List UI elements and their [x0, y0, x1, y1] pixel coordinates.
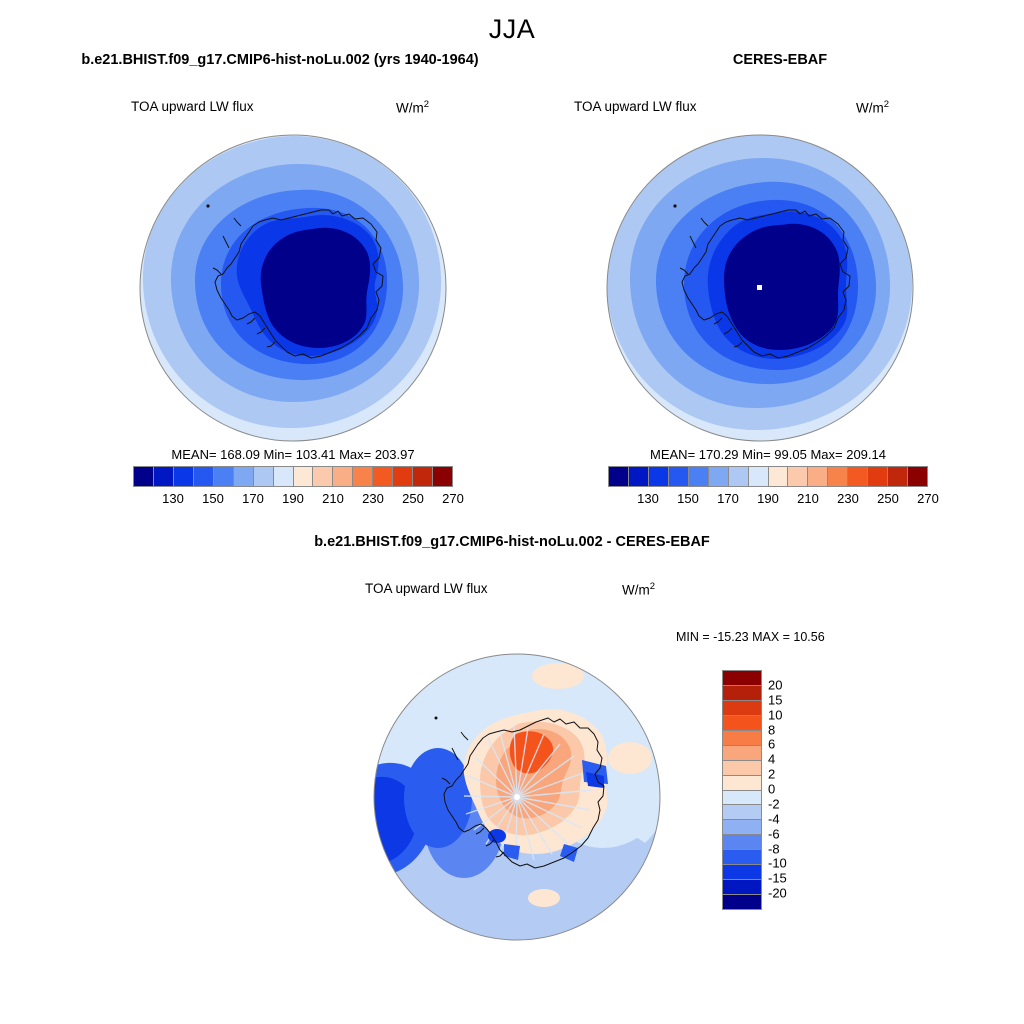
colorbar-swatch [373, 467, 393, 486]
colorbar-swatch [649, 467, 669, 486]
colorbar-difference[interactable]: 20151086420-2-4-6-8-10-15-20 [722, 670, 812, 910]
colorbar-swatch [689, 467, 709, 486]
colorbar-tick-label: 15 [768, 692, 782, 707]
colorbar-tick-label: 20 [768, 677, 782, 692]
difference-units-label: W/m2 [622, 581, 655, 598]
model-units-label: W/m2 [396, 99, 429, 116]
colorbar-tick-label: 150 [202, 491, 224, 506]
colorbar-model-swatches [133, 466, 453, 487]
colorbar-tick-label: 170 [717, 491, 739, 506]
colorbar-swatch [723, 791, 761, 806]
colorbar-swatch [729, 467, 749, 486]
colorbar-swatch [274, 467, 294, 486]
colorbar-swatch [723, 850, 761, 865]
colorbar-swatch [723, 835, 761, 850]
colorbar-swatch [788, 467, 808, 486]
model-variable-label: TOA upward LW flux [131, 99, 254, 114]
model-units-exponent: 2 [424, 99, 429, 110]
colorbar-obs[interactable]: 130150170190210230250270 [608, 466, 928, 509]
map-obs[interactable] [600, 128, 920, 448]
colorbar-tick-label: 6 [768, 737, 775, 752]
colorbar-swatch [868, 467, 888, 486]
colorbar-swatch [333, 467, 353, 486]
colorbar-tick-label: 230 [837, 491, 859, 506]
colorbar-tick-label: 190 [282, 491, 304, 506]
panel-title-obs: CERES-EBAF [560, 52, 1000, 68]
colorbar-swatch [749, 467, 769, 486]
colorbar-swatch [723, 671, 761, 686]
colorbar-swatch [723, 865, 761, 880]
colorbar-tick-label: 0 [768, 782, 775, 797]
colorbar-tick-label: 270 [442, 491, 464, 506]
colorbar-tick-label: -8 [768, 841, 780, 856]
colorbar-tick-label: -15 [768, 871, 787, 886]
colorbar-tick-label: 4 [768, 752, 775, 767]
colorbar-swatch [609, 467, 629, 486]
difference-variable-label: TOA upward LW flux [365, 581, 488, 596]
colorbar-tick-label: 130 [637, 491, 659, 506]
figure-season-title: JJA [0, 14, 1024, 45]
colorbar-swatch [393, 467, 413, 486]
colorbar-tick-label: 8 [768, 722, 775, 737]
obs-units-base: W/m [856, 101, 884, 116]
panel-title-model: b.e21.BHIST.f09_g17.CMIP6-hist-noLu.002 … [0, 52, 560, 68]
difference-minmax-text: MIN = -15.23 MAX = 10.56 [676, 630, 825, 644]
colorbar-tick-label: 270 [917, 491, 939, 506]
obs-variable-label: TOA upward LW flux [574, 99, 697, 114]
colorbar-swatch [214, 467, 234, 486]
colorbar-tick-label: 150 [677, 491, 699, 506]
colorbar-swatch [808, 467, 828, 486]
colorbar-swatch [723, 731, 761, 746]
colorbar-swatch [723, 761, 761, 776]
map-model[interactable] [133, 128, 453, 448]
colorbar-swatch [254, 467, 274, 486]
colorbar-swatch [709, 467, 729, 486]
model-units-base: W/m [396, 101, 424, 116]
map-difference[interactable] [368, 648, 666, 946]
colorbar-tick-label: 2 [768, 767, 775, 782]
colorbar-swatch [154, 467, 174, 486]
model-stats-text: MEAN= 168.09 Min= 103.41 Max= 203.97 [133, 447, 453, 462]
colorbar-swatch [234, 467, 254, 486]
colorbar-swatch [629, 467, 649, 486]
colorbar-swatch [174, 467, 194, 486]
colorbar-swatch [723, 895, 761, 909]
colorbar-difference-ticks: 20151086420-2-4-6-8-10-15-20 [768, 670, 812, 908]
panel-title-difference: b.e21.BHIST.f09_g17.CMIP6-hist-noLu.002 … [0, 534, 1024, 550]
colorbar-swatch [723, 776, 761, 791]
colorbar-swatch [194, 467, 214, 486]
colorbar-swatch [769, 467, 789, 486]
colorbar-tick-label: -4 [768, 811, 780, 826]
colorbar-obs-ticks: 130150170190210230250270 [608, 491, 928, 509]
colorbar-swatch [669, 467, 689, 486]
colorbar-swatch [723, 820, 761, 835]
colorbar-difference-swatches [722, 670, 762, 910]
colorbar-swatch [723, 701, 761, 716]
colorbar-swatch [723, 686, 761, 701]
colorbar-tick-label: -2 [768, 796, 780, 811]
colorbar-model[interactable]: 130150170190210230250270 [133, 466, 453, 509]
difference-units-base: W/m [622, 583, 650, 598]
colorbar-swatch [908, 467, 927, 486]
colorbar-swatch [723, 716, 761, 731]
colorbar-swatch [413, 467, 433, 486]
colorbar-tick-label: 10 [768, 707, 782, 722]
colorbar-tick-label: 190 [757, 491, 779, 506]
colorbar-tick-label: -20 [768, 886, 787, 901]
colorbar-tick-label: -6 [768, 826, 780, 841]
colorbar-tick-label: 130 [162, 491, 184, 506]
obs-units-label: W/m2 [856, 99, 889, 116]
colorbar-swatch [723, 805, 761, 820]
colorbar-swatch [848, 467, 868, 486]
colorbar-model-ticks: 130150170190210230250270 [133, 491, 453, 509]
colorbar-obs-swatches [608, 466, 928, 487]
colorbar-swatch [313, 467, 333, 486]
colorbar-swatch [888, 467, 908, 486]
colorbar-tick-label: 210 [797, 491, 819, 506]
difference-units-exponent: 2 [650, 581, 655, 592]
colorbar-swatch [828, 467, 848, 486]
colorbar-swatch [433, 467, 452, 486]
colorbar-swatch [723, 746, 761, 761]
obs-stats-text: MEAN= 170.29 Min= 99.05 Max= 209.14 [608, 447, 928, 462]
colorbar-swatch [353, 467, 373, 486]
colorbar-swatch [723, 880, 761, 895]
colorbar-tick-label: 170 [242, 491, 264, 506]
colorbar-tick-label: -10 [768, 856, 787, 871]
colorbar-tick-label: 230 [362, 491, 384, 506]
colorbar-tick-label: 210 [322, 491, 344, 506]
colorbar-swatch [294, 467, 314, 486]
colorbar-tick-label: 250 [877, 491, 899, 506]
obs-units-exponent: 2 [884, 99, 889, 110]
colorbar-swatch [134, 467, 154, 486]
colorbar-tick-label: 250 [402, 491, 424, 506]
